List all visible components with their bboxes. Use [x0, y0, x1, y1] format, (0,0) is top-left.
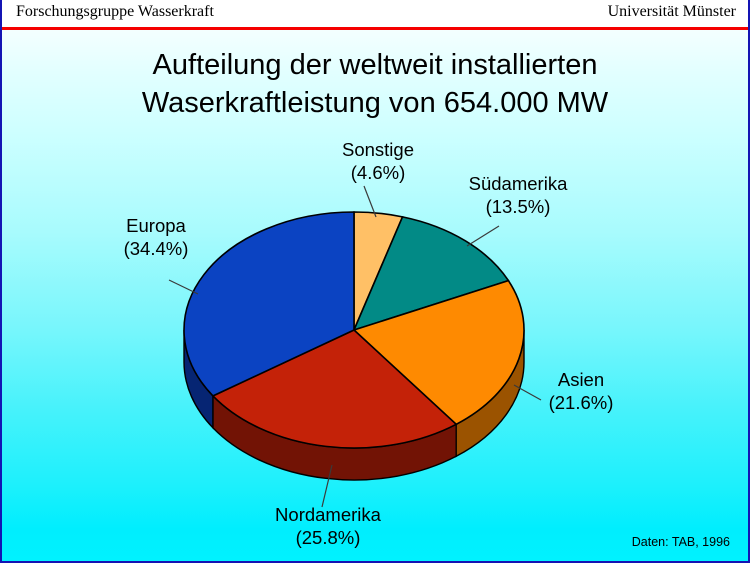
slide-canvas: Forschungsgruppe Wasserkraft Universität…	[0, 0, 750, 563]
leader-line-suedamerika	[467, 226, 499, 246]
pie-label-nordamerika-percent: (25.8%)	[230, 526, 426, 549]
pie-label-europa-percent: (34.4%)	[94, 237, 218, 260]
slide-header: Forschungsgruppe Wasserkraft Universität…	[2, 0, 748, 28]
chart-source-note: Daten: TAB, 1996	[632, 535, 730, 549]
pie-chart-graphic	[2, 30, 748, 561]
pie-label-nordamerika-name: Nordamerika	[230, 503, 426, 526]
pie-label-asien-name: Asien	[522, 368, 640, 391]
pie-label-sonstige: Sonstige (4.6%)	[312, 138, 444, 184]
pie-label-sonstige-name: Sonstige	[312, 138, 444, 161]
pie-chart: Sonstige (4.6%) Südamerika (13.5%) Europ…	[2, 30, 748, 561]
pie-label-europa: Europa (34.4%)	[94, 214, 218, 260]
pie-label-asien-percent: (21.6%)	[522, 391, 640, 414]
header-organisation: Forschungsgruppe Wasserkraft	[16, 3, 214, 21]
pie-label-asien: Asien (21.6%)	[522, 368, 640, 414]
pie-label-sonstige-percent: (4.6%)	[312, 161, 444, 184]
pie-label-suedamerika-percent: (13.5%)	[442, 195, 594, 218]
header-university: Universität Münster	[608, 3, 736, 21]
pie-label-nordamerika: Nordamerika (25.8%)	[230, 503, 426, 549]
slide-body: Aufteilung der weltweit installierten Wa…	[2, 30, 748, 561]
pie-label-suedamerika: Südamerika (13.5%)	[442, 172, 594, 218]
leader-line-europa	[169, 280, 198, 294]
pie-label-europa-name: Europa	[94, 214, 218, 237]
pie-label-suedamerika-name: Südamerika	[442, 172, 594, 195]
